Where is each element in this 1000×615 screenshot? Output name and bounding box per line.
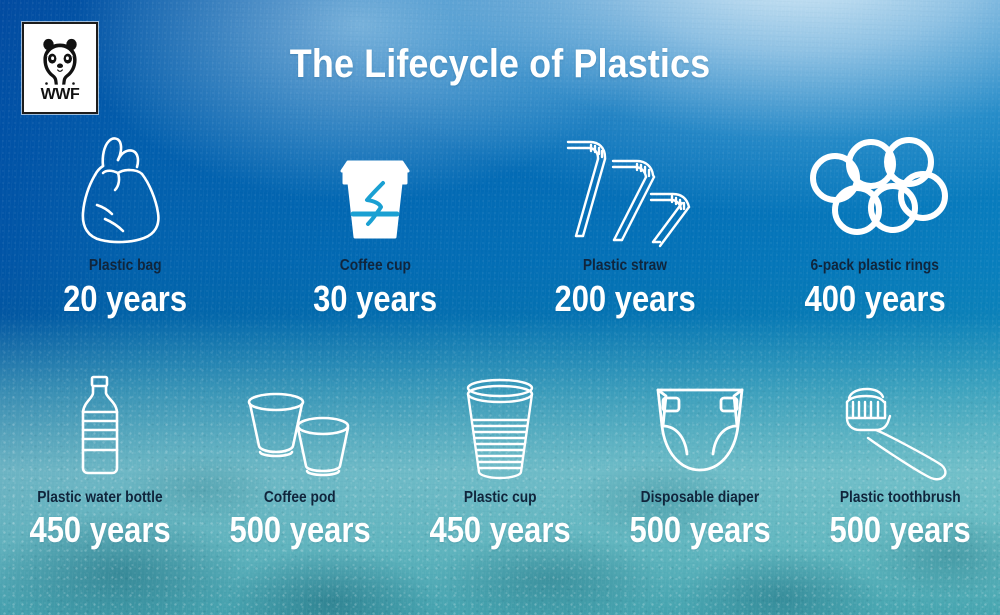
plastic-item-coffee-cup[interactable]: Coffee cup 30 years bbox=[250, 130, 500, 317]
item-label: Plastic water bottle bbox=[37, 490, 162, 506]
toothbrush-icon bbox=[835, 372, 965, 482]
item-label: Plastic bag bbox=[89, 258, 162, 274]
plastic-item-disposable-diaper[interactable]: Disposable diaper 500 years bbox=[600, 372, 800, 548]
plastic-item-toothbrush[interactable]: Plastic toothbrush 500 years bbox=[800, 372, 1000, 548]
plastic-item-plastic-bag[interactable]: Plastic bag 20 years bbox=[0, 130, 250, 317]
item-value: 500 years bbox=[629, 512, 770, 548]
item-label: Disposable diaper bbox=[641, 490, 760, 506]
plastic-item-plastic-straw[interactable]: Plastic straw 200 years bbox=[500, 130, 750, 317]
infographic-canvas: WWF The Lifecycle of Plastics bbox=[0, 0, 1000, 615]
item-value: 450 years bbox=[29, 512, 170, 548]
item-value: 500 years bbox=[829, 512, 970, 548]
plastic-bag-icon bbox=[70, 130, 180, 248]
plastic-straw-icon bbox=[550, 130, 700, 248]
item-label: 6-pack plastic rings bbox=[811, 258, 939, 274]
plastic-item-six-pack-rings[interactable]: 6-pack plastic rings 400 years bbox=[750, 130, 1000, 317]
item-value: 30 years bbox=[313, 281, 437, 317]
water-bottle-icon bbox=[60, 372, 140, 482]
item-label: Coffee cup bbox=[339, 258, 410, 274]
item-value: 450 years bbox=[429, 512, 570, 548]
item-value: 200 years bbox=[554, 281, 695, 317]
item-label: Plastic toothbrush bbox=[840, 490, 961, 506]
item-value: 500 years bbox=[229, 512, 370, 548]
six-pack-rings-icon bbox=[805, 130, 945, 248]
item-value: 400 years bbox=[804, 281, 945, 317]
item-label: Coffee pod bbox=[264, 490, 336, 506]
wwf-wordmark: WWF bbox=[41, 86, 80, 101]
coffee-cup-icon bbox=[327, 130, 423, 248]
page-title: The Lifecycle of Plastics bbox=[50, 44, 950, 84]
item-label: Plastic straw bbox=[583, 258, 667, 274]
plastic-item-plastic-cup[interactable]: Plastic cup 450 years bbox=[400, 372, 600, 548]
plastics-row-1: Plastic bag 20 years Coffee cup 30 years bbox=[0, 130, 1000, 317]
item-label: Plastic cup bbox=[464, 490, 537, 506]
disposable-diaper-icon bbox=[644, 372, 756, 482]
coffee-pod-icon bbox=[240, 372, 360, 482]
plastics-row-2: Plastic water bottle 450 years Coffee po… bbox=[0, 372, 1000, 548]
plastic-cup-icon bbox=[456, 372, 544, 482]
plastic-item-coffee-pod[interactable]: Coffee pod 500 years bbox=[200, 372, 400, 548]
item-value: 20 years bbox=[63, 281, 187, 317]
plastic-item-water-bottle[interactable]: Plastic water bottle 450 years bbox=[0, 372, 200, 548]
